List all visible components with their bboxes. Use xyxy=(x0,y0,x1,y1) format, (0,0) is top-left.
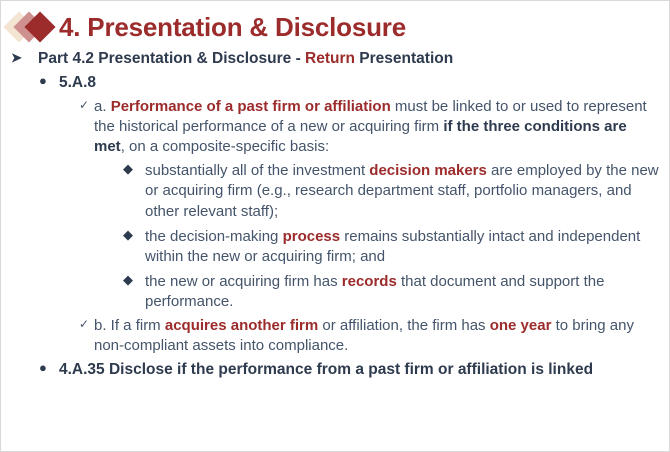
dot-bullet-icon: ● xyxy=(39,360,59,376)
outline-item-condition-1-label: substantially all of the investment deci… xyxy=(145,161,661,221)
outline-item-condition-3-label: the new or acquiring firm has records th… xyxy=(145,272,661,312)
check-bullet-icon: ✓ xyxy=(79,97,94,114)
page-title: 4. Presentation & Disclosure xyxy=(59,13,406,42)
outline-item-4-a-35: ● 4.A.35 Disclose if the performance fro… xyxy=(39,360,661,380)
outline-item-b: ✓ b. If a firm acquires another firm or … xyxy=(79,316,661,356)
three-diamonds-icon xyxy=(7,10,59,44)
slide-title-row: 4. Presentation & Disclosure xyxy=(1,1,669,45)
slide-body: ➤ Part 4.2 Presentation & Disclosure - R… xyxy=(1,45,669,380)
check-bullet-icon: ✓ xyxy=(79,316,94,333)
dot-bullet-icon: ● xyxy=(39,73,59,89)
outline-item-part-4-2: ➤ Part 4.2 Presentation & Disclosure - R… xyxy=(11,49,661,69)
outline-item-condition-2-label: the decision-making process remains subs… xyxy=(145,227,661,267)
outline-item-5-a-8: ● 5.A.8 xyxy=(39,73,661,93)
outline-item-a: ✓ a. Performance of a past firm or affil… xyxy=(79,97,661,156)
arrow-bullet-icon: ➤ xyxy=(11,49,38,68)
outline-item-condition-3: ◆ the new or acquiring firm has records … xyxy=(123,272,661,312)
outline-item-condition-1: ◆ substantially all of the investment de… xyxy=(123,161,661,221)
diamond-bullet-icon: ◆ xyxy=(123,227,145,244)
outline-item-a-label: a. Performance of a past firm or affilia… xyxy=(94,97,661,156)
outline-item-part-4-2-label: Part 4.2 Presentation & Disclosure - Ret… xyxy=(38,49,661,69)
outline-item-b-label: b. If a firm acquires another firm or af… xyxy=(94,316,661,356)
diamond-bullet-icon: ◆ xyxy=(123,161,145,178)
outline-item-5-a-8-label: 5.A.8 xyxy=(59,73,661,93)
outline-item-4-a-35-label: 4.A.35 Disclose if the performance from … xyxy=(59,360,661,380)
outline-item-condition-2: ◆ the decision-making process remains su… xyxy=(123,227,661,267)
diamond-bullet-icon: ◆ xyxy=(123,272,145,289)
slide: 4. Presentation & Disclosure ➤ Part 4.2 … xyxy=(0,0,670,452)
